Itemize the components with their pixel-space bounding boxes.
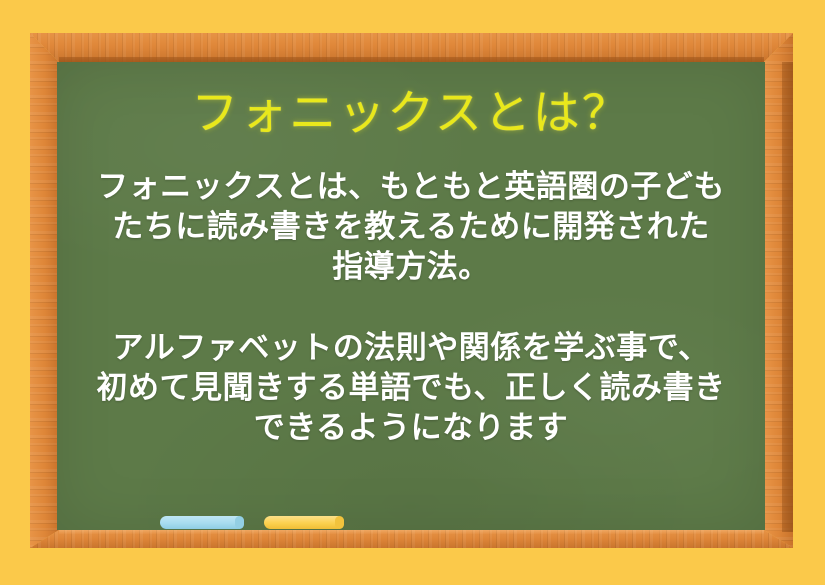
board-content: フォニックスとは？ フォニックスとは、もともと英語圏の子ども たちに読み書きを教… [57,62,765,530]
paragraph-1-line-2: たちに読み書きを教えるために開発された [96,207,725,247]
slide-canvas: フォニックスとは？ フォニックスとは、もともと英語圏の子ども たちに読み書きを教… [0,0,825,585]
paragraph-2-line-2: 初めて見聞きする単語でも、正しく読み書き [96,368,725,408]
frame-plank-left [30,33,59,548]
frame-inner-lip-right [782,62,793,532]
chalkboard-surface: フォニックスとは？ フォニックスとは、もともと英語圏の子ども たちに読み書きを教… [57,62,765,530]
paragraph-2: アルファベットの法則や関係を学ぶ事で、 初めて見聞きする単語でも、正しく読み書き… [96,328,725,449]
paragraph-spacer [96,288,725,328]
blue-chalk-icon [160,516,244,529]
paragraph-1: フォニックスとは、もともと英語圏の子ども たちに読み書きを教えるために開発された… [96,167,725,288]
frame-inner-lip-bottom [59,530,764,534]
paragraph-2-line-1: アルファベットの法則や関係を学ぶ事で、 [96,328,725,368]
yellow-chalk-icon [264,516,344,529]
paragraph-2-line-3: できるようになります [96,408,725,448]
paragraph-1-line-1: フォニックスとは、もともと英語圏の子ども [96,167,725,207]
paragraph-1-line-3: 指導方法。 [96,247,725,287]
board-body: フォニックスとは、もともと英語圏の子ども たちに読み書きを教えるために開発された… [96,167,725,449]
board-title: フォニックスとは？ [191,84,631,143]
